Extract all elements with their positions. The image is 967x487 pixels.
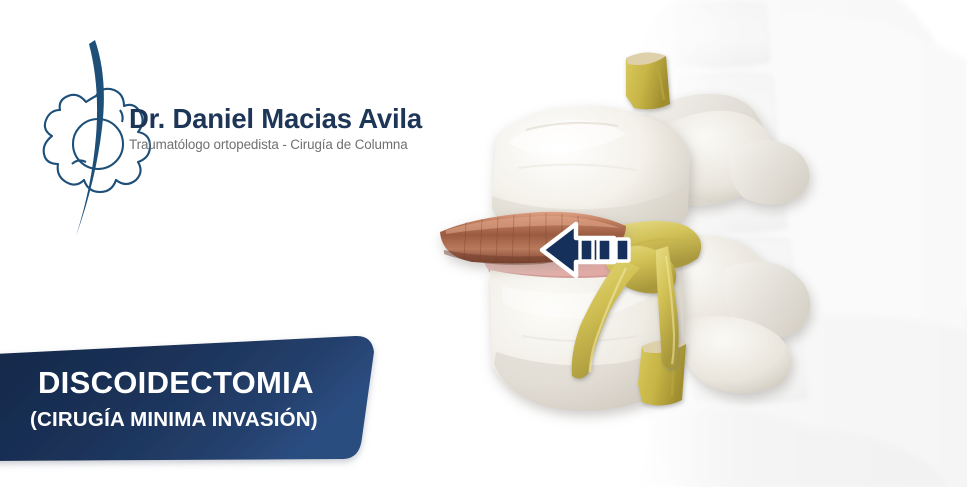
procedure-title: DISCOIDECTOMIA [38, 365, 314, 401]
procedure-subtitle: (CIRUGÍA MINIMA INVASIÓN) [30, 408, 318, 432]
brand-block: Dr. Daniel Macias Avila Traumatólogo ort… [129, 105, 459, 152]
doctor-name: Dr. Daniel Macias Avila [129, 105, 459, 134]
lumbar-discectomy-illustration [430, 0, 967, 487]
promo-banner-canvas: Dr. Daniel Macias Avila Traumatólogo ort… [0, 0, 967, 487]
doctor-specialty: Traumatólogo ortopedista - Cirugía de Co… [129, 137, 459, 152]
procedure-banner: DISCOIDECTOMIA (CIRUGÍA MINIMA INVASIÓN) [0, 330, 420, 475]
